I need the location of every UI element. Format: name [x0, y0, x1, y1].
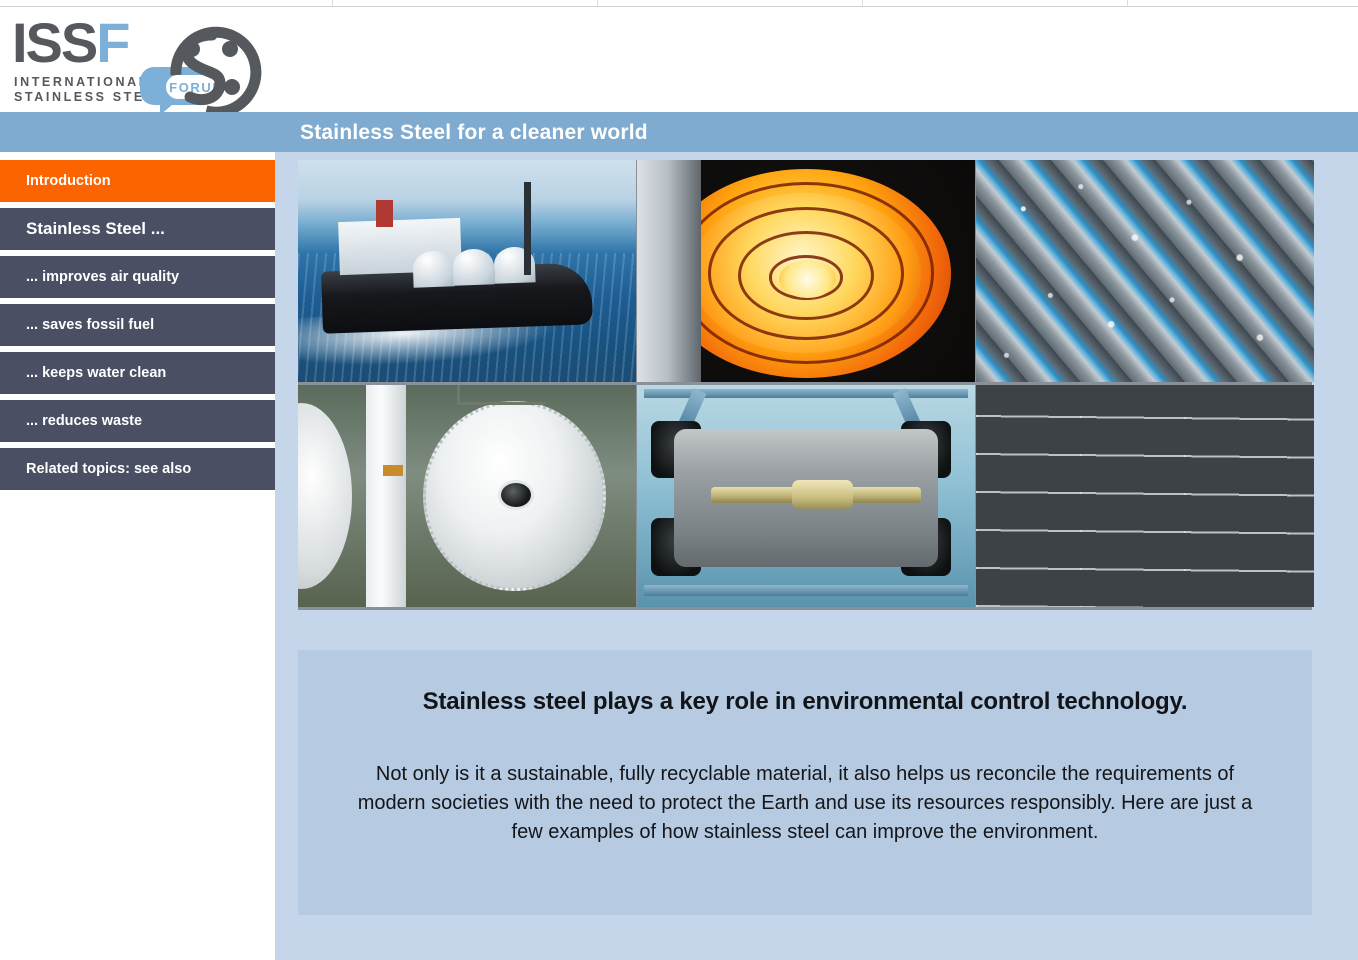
issf-circle-mark-icon: FORUM — [134, 13, 286, 117]
sidebar-nav: Introduction Stainless Steel ... ... imp… — [0, 160, 275, 496]
intro-text-panel: Stainless steel plays a key role in envi… — [298, 650, 1312, 915]
logo-wordmark: ISSF — [12, 15, 128, 71]
ship-lng-tank — [453, 248, 495, 285]
sidebar-item-keeps-water-clean[interactable]: ... keeps water clean — [0, 352, 275, 394]
site-header: ISSF INTERNATIONAL STAINLESS STEEL FORUM — [0, 7, 1358, 112]
logo-subtitle-line1: INTERNATIONAL — [14, 75, 149, 89]
tank-secondary — [298, 403, 352, 589]
sidebar-item-improves-air-quality[interactable]: ... improves air quality — [0, 256, 275, 298]
logo-wordmark-iss: ISS — [12, 11, 96, 74]
intro-heading: Stainless steel plays a key role in envi… — [342, 688, 1268, 716]
sidebar-item-introduction[interactable]: Introduction — [0, 160, 275, 202]
ship-mast — [524, 182, 531, 275]
browser-tab-edge[interactable] — [0, 0, 333, 7]
sidebar-item-label: ... reduces waste — [26, 413, 142, 429]
sidebar-item-label: ... improves air quality — [26, 269, 179, 285]
sidebar-item-stainless-steel[interactable]: Stainless Steel ... — [0, 208, 275, 250]
browser-tab-edge[interactable] — [333, 0, 598, 7]
logo-wordmark-f: F — [96, 11, 128, 74]
lift-beam — [644, 585, 968, 596]
page-root: ISSF INTERNATIONAL STAINLESS STEEL FORUM — [0, 0, 1358, 960]
tank-nozzle — [501, 483, 531, 507]
sidebar-item-label: Introduction — [26, 173, 111, 189]
tank-warning-label — [383, 465, 403, 476]
page-title: Stainless Steel for a cleaner world — [300, 121, 648, 145]
car-muffler — [792, 480, 853, 509]
issf-logo[interactable]: ISSF INTERNATIONAL STAINLESS STEEL FORUM — [12, 13, 284, 113]
stainless-storage-tank-photo — [298, 385, 636, 607]
page-title-banner: Stainless Steel for a cleaner world — [0, 112, 1358, 152]
sidebar-item-label: ... keeps water clean — [26, 365, 166, 381]
coil-centre — [779, 260, 836, 298]
ship-lng-tank — [412, 250, 454, 287]
sidebar-item-saves-fossil-fuel[interactable]: ... saves fossil fuel — [0, 304, 275, 346]
water-droplets — [976, 160, 1314, 382]
ship-funnel — [376, 200, 393, 227]
glowing-heating-coil-photo — [637, 160, 975, 382]
browser-tab-edge[interactable] — [1128, 0, 1358, 7]
sidebar-item-reduces-waste[interactable]: ... reduces waste — [0, 400, 275, 442]
sidebar-item-label: Stainless Steel ... — [26, 219, 165, 239]
browser-tab-edge[interactable] — [598, 0, 863, 7]
tank-overhead-pipe — [457, 385, 545, 405]
content-panel: Stainless steel plays a key role in envi… — [275, 152, 1358, 960]
image-collage — [298, 160, 1312, 610]
car-underbody-exhaust-photo — [637, 385, 975, 607]
browser-tab-edge[interactable] — [863, 0, 1128, 7]
tank-support-column — [366, 385, 407, 607]
sidebar-item-related-topics[interactable]: Related topics: see also — [0, 448, 275, 490]
browser-tab-strip — [0, 0, 1358, 7]
lng-tanker-ship-photo — [298, 160, 636, 382]
corrugated-metal-water-photo — [976, 160, 1314, 382]
sidebar-item-label: ... saves fossil fuel — [26, 317, 154, 333]
intro-body: Not only is it a sustainable, fully recy… — [348, 760, 1262, 847]
mesh-panel-photo — [976, 385, 1314, 607]
coil-housing — [637, 160, 701, 382]
sidebar-item-label: Related topics: see also — [26, 461, 191, 477]
